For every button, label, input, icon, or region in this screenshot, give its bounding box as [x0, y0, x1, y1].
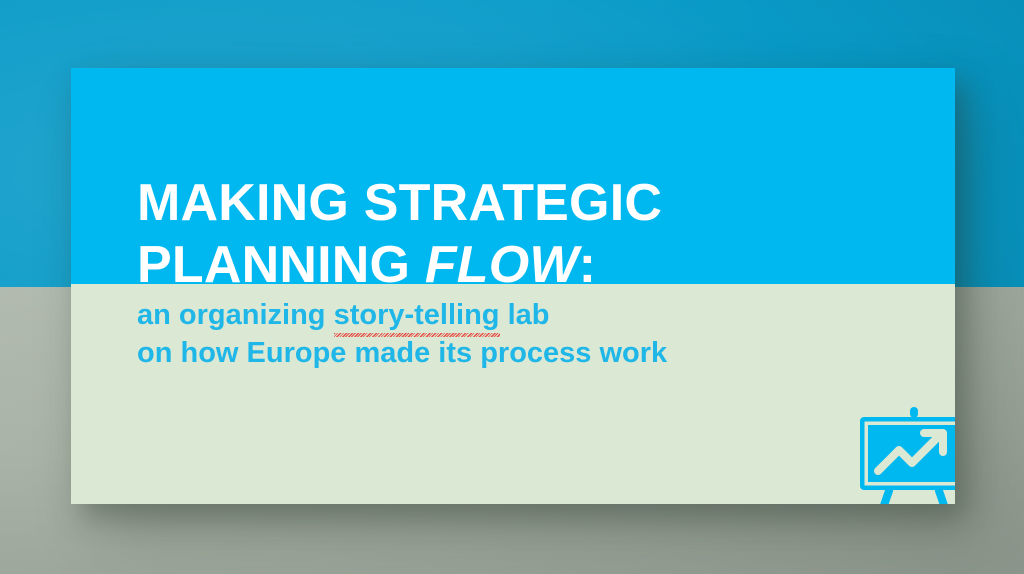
slide-stage: MAKING STRATEGIC PLANNING FLOW: an organ…: [0, 0, 1024, 574]
slide-title-line-2-colon: :: [579, 236, 597, 294]
slide-title: MAKING STRATEGIC PLANNING FLOW:: [137, 172, 662, 296]
slide-subtitle-line-1-before: an organizing: [137, 299, 334, 331]
slide-subtitle: an organizing story-telling lab on how E…: [137, 296, 667, 372]
presentation-chart-easel-svg: [854, 398, 955, 504]
slide-card: MAKING STRATEGIC PLANNING FLOW: an organ…: [71, 68, 955, 504]
slide-subtitle-line-1-after: lab: [500, 299, 550, 331]
slide-title-line-2: PLANNING FLOW:: [137, 234, 662, 296]
spellcheck-underlined-text: story-telling: [334, 296, 500, 334]
slide-title-emphasis-flow: FLOW: [425, 236, 579, 294]
slide-title-line-1: MAKING STRATEGIC: [137, 172, 662, 234]
easel-top-knob: [910, 407, 918, 418]
slide-title-line-2-prefix: PLANNING: [137, 236, 425, 294]
slide-subtitle-line-2: on how Europe made its process work: [137, 334, 667, 372]
presentation-chart-easel-icon: [854, 398, 955, 504]
slide-subtitle-line-1: an organizing story-telling lab: [137, 296, 667, 334]
